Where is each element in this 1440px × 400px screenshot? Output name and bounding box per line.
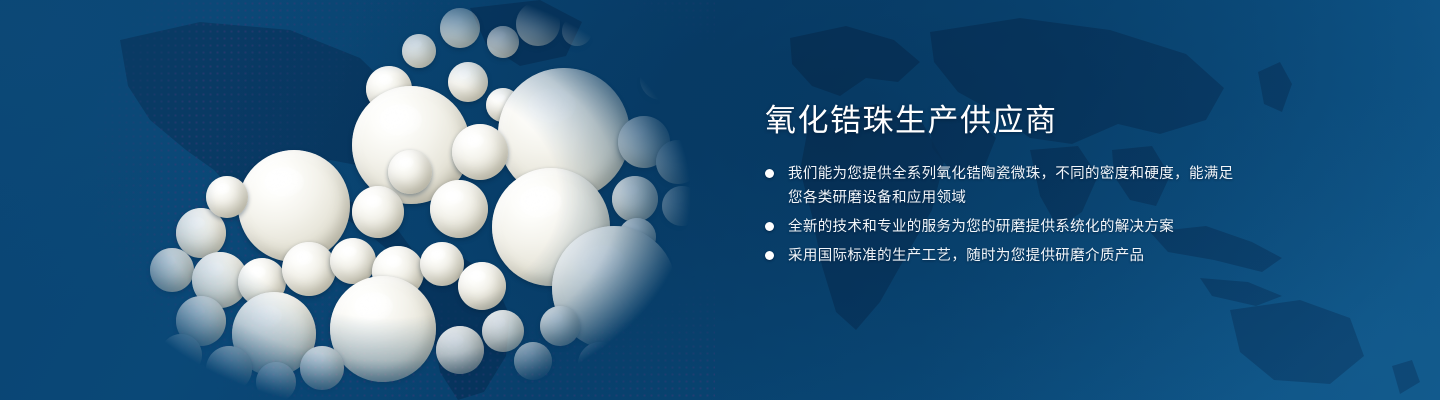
list-item: 采用国际标准的生产工艺，随时为您提供研磨介质产品 xyxy=(765,244,1235,268)
page-title: 氧化锆珠生产供应商 xyxy=(765,104,1235,137)
list-item: 全新的技术和专业的服务为您的研磨提供系统化的解决方案 xyxy=(765,215,1235,239)
bullet-dot-icon xyxy=(765,169,774,178)
list-item-label: 全新的技术和专业的服务为您的研磨提供系统化的解决方案 xyxy=(788,215,1174,239)
zirconia-beads-photo xyxy=(0,0,760,400)
feature-bullet-list: 我们能为您提供全系列氧化锆陶瓷微珠，不同的密度和硬度，能满足您各类研磨设备和应用… xyxy=(765,162,1235,268)
bullet-dot-icon xyxy=(765,251,774,260)
list-item: 我们能为您提供全系列氧化锆陶瓷微珠，不同的密度和硬度，能满足您各类研磨设备和应用… xyxy=(765,162,1235,210)
bullet-dot-icon xyxy=(765,222,774,231)
list-item-label: 采用国际标准的生产工艺，随时为您提供研磨介质产品 xyxy=(788,244,1144,268)
list-item-label: 我们能为您提供全系列氧化锆陶瓷微珠，不同的密度和硬度，能满足您各类研磨设备和应用… xyxy=(788,162,1235,210)
hero-banner: 氧化锆珠生产供应商 我们能为您提供全系列氧化锆陶瓷微珠，不同的密度和硬度，能满足… xyxy=(0,0,1440,400)
banner-copy: 氧化锆珠生产供应商 我们能为您提供全系列氧化锆陶瓷微珠，不同的密度和硬度，能满足… xyxy=(765,104,1235,273)
